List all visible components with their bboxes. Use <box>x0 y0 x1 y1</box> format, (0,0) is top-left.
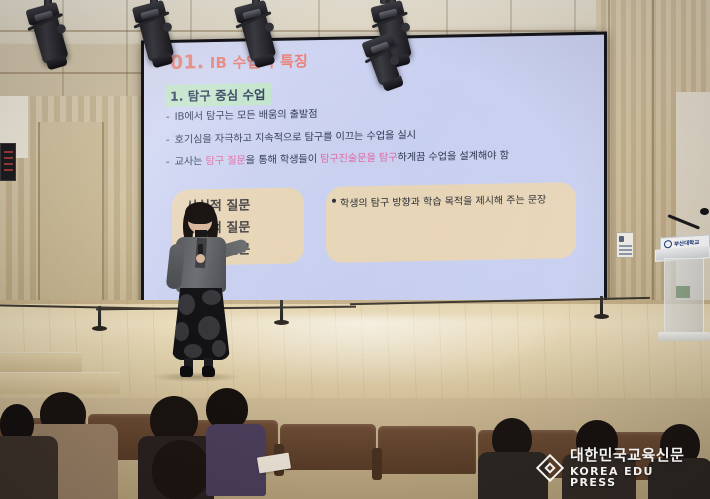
stage-step-upper <box>0 352 82 372</box>
bullet-text-part: 하게끔 수업을 설계해야 함 <box>397 151 508 164</box>
bullet-dash: - <box>166 157 170 168</box>
stage-step-lower <box>0 372 120 394</box>
stanchion-base-3 <box>594 314 609 319</box>
seat-armrest <box>372 448 382 480</box>
microphone-icon <box>700 208 709 215</box>
wall-control-panel-right[interactable] <box>616 232 634 258</box>
auditorium-seat <box>378 426 476 474</box>
bullet-highlight-inquiry-question: 탐구 질문 <box>206 156 246 168</box>
bullet-text-part: 교사는 <box>175 157 206 169</box>
bullet-item: -IB에서 탐구는 모든 배움의 출발점 <box>166 105 586 124</box>
stanchion-post-2 <box>280 300 283 322</box>
auditorium-seat <box>280 424 376 470</box>
statement-definition-text: 학생의 탐구 방향과 학습 목적을 제시해 주는 문장 <box>340 191 546 210</box>
slide-section-heading: 1. 탐구 중심 수업 <box>166 83 271 107</box>
bullet-dash: - <box>166 112 170 123</box>
speaker-boot-right <box>202 366 215 377</box>
slide-title-number: 01. <box>170 51 204 74</box>
slide-bullet-list: -IB에서 탐구는 모든 배움의 출발점 -호기심을 자극하고 지속적으로 탐구… <box>166 105 586 181</box>
speaker-hand <box>196 254 205 263</box>
speaker-boot-left <box>180 366 193 377</box>
wall-control-panel-left[interactable] <box>0 143 16 181</box>
bullet-dot-icon <box>332 199 336 203</box>
wall-panel-line <box>652 0 654 330</box>
slide-title: 01. IB 수업의 특징 <box>170 49 308 74</box>
speaker-hair-top <box>185 202 215 224</box>
photo-scene: 01. IB 수업의 특징 1. 탐구 중심 수업 -IB에서 탐구는 모든 배… <box>0 0 710 499</box>
stanchion-post-1 <box>98 306 101 328</box>
podium-base <box>658 332 710 341</box>
watermark-korean: 대한민국교육신문 <box>570 448 704 463</box>
university-seal-icon <box>664 240 672 249</box>
stage-door[interactable] <box>38 122 104 327</box>
bullet-text-part: 을 통해 학생들이 <box>246 154 320 166</box>
podium-emblem <box>676 286 690 298</box>
bullet-dash: - <box>166 135 170 146</box>
press-logo-icon <box>536 454 564 482</box>
speaker-presenter <box>158 206 244 376</box>
stanchion-post-3 <box>600 296 603 316</box>
bullet-item-emphasized: -교사는 탐구 질문을 통해 학생들이 탐구진술문을 탐구하게끔 수업을 설계해… <box>166 150 586 169</box>
stanchion-base-1 <box>92 326 107 331</box>
bullet-text: 호기심을 자극하고 지속적으로 탐구를 이끄는 수업을 실시 <box>175 130 416 146</box>
bullet-highlight-inquiry-statement: 탐구진술문을 탐구 <box>320 153 397 165</box>
speaker-skirt <box>172 288 230 360</box>
watermark-english: KOREA EDU PRESS <box>570 466 704 488</box>
slide-box-statement-definition: 학생의 탐구 방향과 학습 목적을 제시해 주는 문장 <box>326 182 576 263</box>
light-rig-mount <box>380 0 388 4</box>
watermark: 대한민국교육신문 KOREA EDU PRESS <box>536 446 704 490</box>
stanchion-base-2 <box>274 320 289 325</box>
bullet-item: -호기심을 자극하고 지속적으로 탐구를 이끄는 수업을 실시 <box>166 128 586 147</box>
bullet-text: IB에서 탐구는 모든 배움의 출발점 <box>175 109 318 123</box>
wall-panel-line <box>608 0 610 330</box>
